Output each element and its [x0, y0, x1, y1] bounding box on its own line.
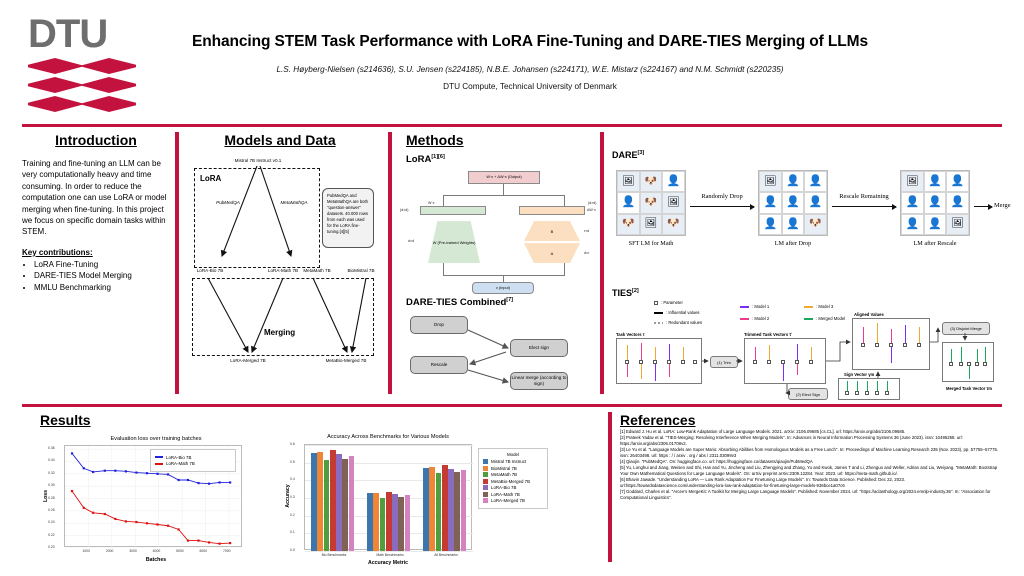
bar: [349, 456, 355, 551]
line-chart-legend: LoRA-Bio 7B LoRA-Math 7B: [150, 449, 236, 472]
references-section: References [1] Edward J. Hu et al. LoRA:…: [620, 412, 1002, 501]
logo-wave-3: [28, 96, 136, 112]
dare-cell: 🖼: [901, 171, 924, 192]
dare-arrow-label-rescale: Rescale Remaining: [836, 193, 892, 201]
dare-cell: 🐶: [662, 214, 685, 235]
dare-cell: 🐶: [804, 214, 827, 235]
dare-cell: 🖼: [617, 171, 640, 192]
dare-arrow-drop: [690, 206, 754, 207]
legend-item: LoRA-Math 7B: [483, 492, 543, 497]
reference-item: [2] Prateek Yadav et al. "TIES-Merging: …: [620, 435, 1002, 447]
y-tick-label: 0.3: [290, 495, 295, 499]
methods-heading: Methods: [406, 132, 601, 148]
lora-dim-dd-left: (d×d): [400, 208, 409, 212]
model-node-metabio-merged: MetaBio-Merged 7B: [326, 358, 367, 363]
series-color-swatch: [155, 463, 163, 465]
lora-conn-left-low: [443, 263, 444, 276]
poster-root: DTU Enhancing STEM Task Performance with…: [0, 0, 1024, 576]
key-contributions-heading: Key contributions:: [22, 248, 170, 257]
accuracy-bar-chart: Accuracy Across Benchmarks for Various M…: [282, 434, 550, 570]
legend-label: LoRA-Math 7B: [166, 461, 195, 466]
merging-group-box: [192, 278, 374, 356]
reference-item: [7] Goddard, Charles et al. "Arcee's Mer…: [620, 489, 1002, 501]
reference-item: [3] Le Yu et al. "Language Models are Su…: [620, 447, 1002, 459]
y-tick-label: 0.26: [48, 508, 55, 512]
lora-dim-dxd: d×d: [408, 239, 414, 243]
dare-diagram: 🖼 🐶 👤 👤 🐶 🖼 🐶 🖼 🐶 SFT LM for Math 🖼 👤 👤 …: [612, 166, 1004, 258]
bar-chart-xlabel: Accuracy Metric: [368, 560, 408, 566]
dare-cell: 🐶: [617, 214, 640, 235]
lora-subheading-text: LoRA: [406, 154, 431, 165]
dare-cell: 👤: [662, 171, 685, 192]
series-color-swatch: [483, 479, 488, 484]
lora-matrix-b: B: [524, 221, 580, 241]
dare-cell: 🐶: [640, 192, 663, 213]
dare-grid-label-rescale: LM after Rescale: [892, 240, 978, 247]
dare-ties-subheading: DARE-TIES Combined[7]: [406, 297, 601, 308]
dare-cell: 👤: [782, 214, 805, 235]
legend-label: BioMistral 7B: [491, 466, 517, 471]
x-tick-label: 6000: [200, 549, 208, 553]
bar: [405, 495, 411, 551]
series-color-swatch: [483, 485, 488, 490]
legend-item: LoRA-Math 7B: [155, 461, 231, 466]
results-divider: [22, 404, 1002, 407]
bar: [442, 465, 448, 551]
references-heading: References: [620, 412, 1002, 428]
models-and-data-diagram: Mistral 7B Instruct v0.1 LoRA PubMedQA M…: [186, 156, 374, 371]
x-tick-label: 2000: [106, 549, 114, 553]
ties-heading-text: TIES: [612, 288, 632, 298]
introduction-section: Introduction Training and fine-tuning an…: [22, 132, 170, 293]
line-chart-xlabel: Batches: [146, 557, 166, 563]
y-tick-label: 0.22: [48, 533, 55, 537]
reference-item: [6] Bhavin Jawade. "Understanding LoRA —…: [620, 477, 1002, 489]
divider-results-refs: [608, 412, 612, 562]
legend-label: Mistral 7B Instruct: [491, 459, 526, 464]
lora-diagram: W·x + ΔW·x (Output) W (Pre-trained Weigh…: [406, 165, 601, 295]
dare-heading-text: DARE: [612, 150, 638, 160]
lora-dim-dxr: d×r: [584, 251, 589, 255]
lora-conn-right-low: [564, 263, 565, 276]
models-and-data-section: Models and Data Mistral 7B Instruct v0.1…: [186, 132, 374, 372]
models-and-data-heading: Models and Data: [186, 132, 374, 148]
dare-cell: 👤: [782, 192, 805, 213]
y-tick-label: 0.2: [290, 513, 295, 517]
y-tick-label: 0.34: [48, 458, 55, 462]
bar: [398, 497, 404, 551]
dare-section: DARE[3] 🖼 🐶 👤 👤 🐶 🖼 🐶 🖼 🐶 SFT LM for Mat…: [612, 150, 1004, 258]
dare-ties-refs: [7]: [506, 297, 513, 303]
lora-label-dwx: ΔW·x: [587, 208, 596, 212]
y-tick-label: 0.30: [48, 483, 55, 487]
y-tick-label: 0.0: [290, 548, 295, 552]
bar: [436, 473, 442, 551]
lora-label-wx: W·x: [428, 201, 434, 205]
legend-item: BioMistral 7B: [483, 466, 543, 471]
results-section: Results: [22, 412, 582, 428]
introduction-heading: Introduction: [22, 132, 170, 148]
bar: [330, 450, 336, 551]
dare-grid-label-drop: LM after Drop: [750, 240, 836, 247]
dare-cell: 👤: [924, 192, 947, 213]
lora-dwx-box: [519, 206, 585, 215]
model-node-lora-math: LoRA-Math 7B: [268, 268, 298, 273]
dare-arrow-rescale: [832, 206, 896, 207]
divider-intro-models: [175, 132, 179, 394]
ties-refs: [2]: [632, 288, 639, 294]
dare-cell: 🐶: [640, 171, 663, 192]
legend-item: Mistral 7B Instruct: [483, 459, 543, 464]
flow-node-drop: Drop: [410, 316, 468, 334]
flow-node-elect-sign: Elect sign: [510, 339, 568, 357]
ties-connectors: [612, 298, 1004, 400]
gridline: [305, 445, 473, 446]
dare-arrow-merge: [974, 206, 992, 207]
x-tick-label: 1000: [82, 549, 90, 553]
dataset-note: PubMedQA and MetaMathQA are both "questi…: [322, 188, 374, 248]
series-color-swatch: [155, 456, 163, 458]
ties-section: TIES[2] : Parameter : Influential values…: [612, 288, 1004, 400]
dare-cell: 👤: [901, 192, 924, 213]
dare-cell: 👤: [782, 171, 805, 192]
poster-title: Enhancing STEM Task Performance with LoR…: [190, 33, 870, 51]
ties-diagram: : Parameter : Influential values : Redun…: [612, 298, 1004, 400]
lora-dim-right: (d×d): [588, 201, 597, 205]
bar-chart-plot-area: [304, 444, 472, 550]
bar: [324, 460, 330, 551]
dare-heading: DARE[3]: [612, 150, 1004, 160]
introduction-body: Training and fine-tuning an LLM can be v…: [22, 158, 170, 238]
logo-wave-2: [28, 77, 136, 93]
list-item: LoRA Fine-Tuning: [34, 259, 170, 270]
dare-cell: 👤: [946, 171, 969, 192]
bar: [336, 454, 342, 551]
dare-ties-flowchart: Drop Rescale Elect sign Linear merge (ac…: [406, 312, 601, 392]
merging-group-label: Merging: [264, 328, 295, 337]
dare-ties-subheading-text: DARE-TIES Combined: [406, 297, 506, 308]
list-item: DARE-TIES Model Merging: [34, 270, 170, 281]
x-tick-label: 5000: [176, 549, 184, 553]
dare-cell: 👤: [924, 214, 947, 235]
dare-grid-label-sft: SFT LM for Math: [608, 240, 694, 247]
x-tick-label: Bio Benchmarks: [318, 553, 350, 557]
x-tick-label: Math Benchmarks: [374, 553, 406, 557]
bar: [373, 493, 379, 551]
bar: [392, 494, 398, 551]
dare-cell: 👤: [804, 171, 827, 192]
y-tick-label: 0.6: [290, 442, 295, 446]
model-node-metamath: MetaMath 7B: [303, 268, 330, 273]
y-tick-label: 0.4: [290, 477, 295, 481]
y-tick-label: 0.1: [290, 530, 295, 534]
gridline: [305, 551, 473, 552]
dare-arrow-label-drop: Randomly Drop: [697, 193, 747, 201]
dare-cell: 🖼: [640, 214, 663, 235]
author-list: L.S. Høyberg-Nielsen (s214636), S.U. Jen…: [190, 64, 870, 76]
dare-cell: 👤: [901, 214, 924, 235]
y-tick-label: 0.32: [48, 471, 55, 475]
legend-label: LoRA-Merged 7B: [491, 498, 525, 503]
legend-label: MetaBio-Merged 7B: [491, 479, 530, 484]
series-color-swatch: [483, 472, 488, 477]
dare-cell: 🖼: [759, 171, 782, 192]
dare-grid-rescale: 🖼 👤 👤 👤 👤 👤 👤 👤 🖼: [900, 170, 970, 236]
y-tick-label: 0.5: [290, 460, 295, 464]
bar-chart-title: Accuracy Across Benchmarks for Various M…: [327, 434, 449, 440]
reference-item: [5] Yu, Longhui and Jiang, Weisen and Sh…: [620, 465, 1002, 477]
x-tick-label: All Benchmarks: [430, 553, 462, 557]
key-contributions-list: LoRA Fine-Tuning DARE-TIES Model Merging…: [22, 259, 170, 293]
legend-label: LoRA-Math 7B: [491, 492, 520, 497]
lora-subheading: LoRA[1][6]: [406, 154, 601, 165]
bar: [367, 493, 373, 551]
dare-cell: 🖼: [662, 192, 685, 213]
bar: [461, 470, 467, 551]
lora-output-box: W·x + ΔW·x (Output): [468, 171, 540, 184]
bar: [317, 452, 323, 551]
ties-heading: TIES[2]: [612, 288, 1004, 298]
series-color-swatch: [483, 498, 488, 503]
bar-legend-items: Mistral 7B InstructBioMistral 7BMetaMath…: [483, 459, 543, 503]
dare-cell: 👤: [804, 192, 827, 213]
series-color-swatch: [483, 459, 488, 464]
x-tick-label: 4000: [153, 549, 161, 553]
x-tick-label: 3000: [129, 549, 137, 553]
flow-node-linear-merge: Linear merge (according to sign): [510, 372, 568, 390]
legend-item: MetaBio-Merged 7B: [483, 479, 543, 484]
list-item: MMLU Benchmarking: [34, 282, 170, 293]
legend-item: LoRA-Merged 7B: [483, 498, 543, 503]
dare-cell: 👤: [759, 214, 782, 235]
dtu-logo-text: DTU: [28, 14, 148, 54]
lora-refs: [1][6]: [431, 154, 444, 160]
bar: [429, 467, 435, 551]
bar: [380, 498, 386, 551]
lora-conn-bottom-horiz: [443, 275, 565, 276]
bar-chart-bars: [305, 445, 473, 551]
results-heading: Results: [40, 412, 582, 428]
dare-cell: 👤: [617, 192, 640, 213]
bar: [454, 472, 460, 552]
legend-title: Model: [483, 452, 543, 457]
divider-models-methods: [388, 132, 392, 394]
top-divider: [22, 124, 1002, 127]
line-chart-title: Evaluation loss over training batches: [110, 436, 201, 442]
dtu-logo: DTU: [28, 14, 148, 110]
legend-item: LoRA-Bio 7B: [155, 455, 231, 460]
dare-cell: 👤: [759, 192, 782, 213]
logo-wave-1: [28, 58, 136, 74]
legend-item: MetaMath 7B: [483, 472, 543, 477]
lora-wx-box: [420, 206, 486, 215]
lora-matrix-a: A: [524, 243, 580, 263]
lora-input-box: x (Input): [472, 282, 534, 294]
x-tick-label: 7000: [223, 549, 231, 553]
dare-cell: 👤: [946, 192, 969, 213]
lora-dim-rxd: r×d: [584, 229, 589, 233]
dare-cell: 🖼: [946, 214, 969, 235]
lora-pretrained-weights: W (Pre-trained Weights): [428, 221, 480, 263]
bar: [423, 468, 429, 551]
bar: [342, 459, 348, 551]
flow-node-rescale: Rescale: [410, 356, 468, 374]
dtu-logo-waves: [28, 58, 148, 112]
bar: [448, 469, 454, 551]
legend-label: MetaMath 7B: [491, 472, 517, 477]
y-tick-label: 0.28: [48, 496, 55, 500]
lora-dim-left: (d×d): [400, 208, 409, 212]
legend-item: LoRA-Bio 7B: [483, 485, 543, 490]
y-tick-label: 0.24: [48, 520, 55, 524]
dare-grid-drop: 🖼 👤 👤 👤 👤 👤 👤 👤 🐶: [758, 170, 828, 236]
dare-arrow-label-merge: Merge: [994, 202, 1020, 210]
bar: [311, 453, 317, 551]
evaluation-loss-chart: Evaluation loss over training batches Lo…: [38, 436, 268, 568]
series-color-swatch: [483, 466, 488, 471]
lora-conn-horiz-top: [443, 195, 565, 196]
model-node-lora-merged: LoRA-Merged 7B: [230, 358, 266, 363]
dare-refs: [3]: [638, 150, 645, 156]
bar-chart-legend: Model Mistral 7B InstructBioMistral 7BMe…: [478, 448, 548, 509]
series-color-swatch: [483, 492, 488, 497]
legend-label: LoRA-Bio 7B: [491, 485, 516, 490]
model-node-biomistral: BioMistral 7B: [347, 268, 374, 273]
y-tick-label: 0.20: [48, 545, 55, 549]
affiliation: DTU Compute, Technical University of Den…: [190, 82, 870, 91]
dare-grid-sft: 🖼 🐶 👤 👤 🐶 🖼 🐶 🖼 🐶: [616, 170, 686, 236]
methods-section: Methods LoRA[1][6] W·x + ΔW·x (Output) W…: [406, 132, 601, 392]
bar: [386, 492, 392, 551]
y-tick-label: 0.36: [48, 446, 55, 450]
legend-label: LoRA-Bio 7B: [166, 455, 191, 460]
model-node-lora-bio: LoRA-Bio 7B: [197, 268, 224, 273]
dare-cell: 👤: [924, 171, 947, 192]
